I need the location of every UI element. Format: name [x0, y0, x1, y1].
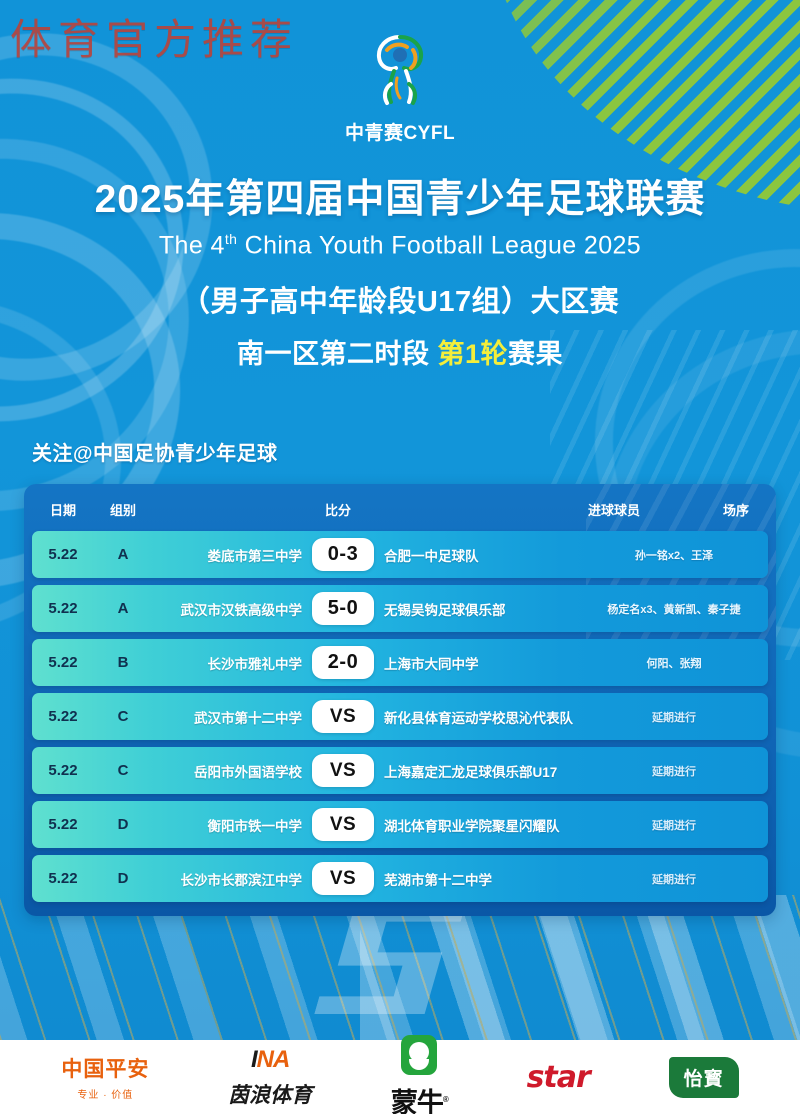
cell-match-no: 36	[764, 762, 768, 780]
cell-scorer: 延期进行	[584, 762, 764, 780]
sponsor-ina-monogram: INA	[251, 1046, 289, 1074]
poster-root: 体育官方推荐 中青赛CYFL 2025年第四届中国青少年足球联赛 The 4th…	[0, 0, 800, 1114]
away-team-name: 合肥一中足球队	[384, 545, 584, 565]
sponsor-yibao: 怡寳	[669, 1057, 739, 1098]
sponsor-ina-na: NA	[257, 1046, 290, 1073]
header-scorer: 进球球员	[524, 500, 704, 519]
home-team-name: 武汉市汉铁高级中学	[152, 599, 302, 619]
bottom-diagonal-decoration	[0, 895, 800, 1040]
cell-match-no: 32	[764, 546, 768, 564]
cell-date: 5.22	[32, 816, 94, 833]
cell-scorer: 何阳、张翔	[584, 654, 764, 672]
sponsor-star: star	[527, 1060, 590, 1095]
cell-date: 5.22	[32, 870, 94, 887]
results-table-card: 日期 组别 比分 进球球员 场序 5.22A娄底市第三中学0-3合肥一中足球队孙…	[24, 484, 776, 916]
cell-match: 武汉市汉铁高级中学5-0无锡吴钩足球俱乐部	[152, 592, 584, 625]
cell-match-no: 38	[764, 870, 768, 888]
sponsor-yibao-name: 怡寳	[669, 1057, 739, 1098]
cell-scorer: 孙一铭x2、王泽	[584, 546, 764, 564]
home-team-name: 衡阳市铁一中学	[152, 815, 302, 835]
scorer-text: 延期进行	[652, 766, 696, 778]
header-score: 比分	[152, 500, 524, 519]
scorer-text: 孙一铭x2、王泽	[635, 550, 713, 562]
table-row[interactable]: 5.22C岳阳市外国语学校VS上海嘉定汇龙足球俱乐部U17延期进行36	[32, 747, 768, 794]
sponsor-ina-name: 茵浪体育	[228, 1079, 312, 1109]
cell-date: 5.22	[32, 708, 94, 725]
cell-match-no: 34	[764, 654, 768, 672]
table-row[interactable]: 5.22D衡阳市铁一中学VS湖北体育职业学院聚星闪耀队延期进行37	[32, 801, 768, 848]
sponsor-mengniu-name: 蒙牛®	[391, 1081, 448, 1114]
cell-group: D	[94, 870, 152, 887]
english-title-rest: China Youth Football League 2025	[237, 231, 641, 259]
away-team-name: 无锡吴钩足球俱乐部	[384, 599, 584, 619]
away-team-name: 新化县体育运动学校思沁代表队	[384, 707, 584, 727]
header-match-no: 场序	[704, 500, 768, 519]
cell-match-no: 35	[764, 708, 768, 726]
cell-group: C	[94, 708, 152, 725]
header-group: 组别	[94, 500, 152, 519]
cell-match: 长沙市长郡滨江中学VS芜湖市第十二中学	[152, 862, 584, 895]
sponsor-star-name: star	[527, 1060, 590, 1095]
sponsor-bar: 中国平安 专业 · 价值 INA 茵浪体育 蒙牛® star 怡寳	[0, 1040, 800, 1114]
title-block: 2025年第四届中国青少年足球联赛 The 4th China Youth Fo…	[0, 178, 800, 371]
score-badge: 0-3	[312, 538, 374, 571]
table-row[interactable]: 5.22C武汉市第十二中学VS新化县体育运动学校思沁代表队延期进行35	[32, 693, 768, 740]
table-row[interactable]: 5.22D长沙市长郡滨江中学VS芜湖市第十二中学延期进行38	[32, 855, 768, 902]
scorer-text: 杨定名x3、黄新凯、秦子捷	[607, 604, 740, 616]
logo-text: 中青赛CYFL	[345, 118, 455, 145]
cell-group: B	[94, 654, 152, 671]
table-row[interactable]: 5.22A武汉市汉铁高级中学5-0无锡吴钩足球俱乐部杨定名x3、黄新凯、秦子捷3…	[32, 585, 768, 632]
cell-group: C	[94, 762, 152, 779]
sponsor-mengniu-label: 蒙牛	[391, 1088, 443, 1114]
cell-group: A	[94, 546, 152, 563]
sponsor-ina-sports: INA 茵浪体育	[228, 1046, 312, 1109]
table-header-row: 日期 组别 比分 进球球员 场序	[32, 494, 768, 524]
away-team-name: 芜湖市第十二中学	[384, 869, 584, 889]
score-badge: VS	[312, 862, 374, 895]
cell-match: 衡阳市铁一中学VS湖北体育职业学院聚星闪耀队	[152, 808, 584, 841]
table-body: 5.22A娄底市第三中学0-3合肥一中足球队孙一铭x2、王泽325.22A武汉市…	[32, 531, 768, 902]
cell-scorer: 延期进行	[584, 708, 764, 726]
subtitle-round-highlight: 第1轮	[437, 339, 508, 369]
table-row[interactable]: 5.22A娄底市第三中学0-3合肥一中足球队孙一铭x2、王泽32	[32, 531, 768, 578]
home-team-name: 武汉市第十二中学	[152, 707, 302, 727]
main-title: 2025年第四届中国青少年足球联赛	[0, 178, 800, 223]
mengniu-logo-icon	[401, 1035, 437, 1075]
cell-match-no: 33	[764, 600, 768, 618]
score-badge: 2-0	[312, 646, 374, 679]
home-team-name: 娄底市第三中学	[152, 545, 302, 565]
subtitle-category: （男子高中年龄段U17组）大区赛	[0, 278, 800, 320]
score-badge: 5-0	[312, 592, 374, 625]
cell-match: 娄底市第三中学0-3合肥一中足球队	[152, 538, 584, 571]
sponsor-ping-an: 中国平安 专业 · 价值	[61, 1053, 149, 1101]
cell-match: 岳阳市外国语学校VS上海嘉定汇龙足球俱乐部U17	[152, 754, 584, 787]
subtitle-round: 南一区第二时段 第1轮赛果	[0, 332, 800, 371]
sponsor-ping-an-name: 中国平安	[61, 1053, 149, 1083]
english-title-ordinal: th	[225, 231, 237, 247]
registered-mark: ®	[443, 1095, 448, 1104]
cell-date: 5.22	[32, 600, 94, 617]
score-badge: VS	[312, 700, 374, 733]
cyfl-emblem-icon	[361, 26, 439, 114]
cell-match: 长沙市雅礼中学2-0上海市大同中学	[152, 646, 584, 679]
scorer-text: 延期进行	[652, 874, 696, 886]
scorer-text: 延期进行	[652, 820, 696, 832]
follow-handle-text: 关注@中国足协青少年足球	[32, 437, 278, 466]
english-title-prefix: The 4	[159, 231, 225, 259]
cell-match: 武汉市第十二中学VS新化县体育运动学校思沁代表队	[152, 700, 584, 733]
cell-date: 5.22	[32, 762, 94, 779]
cell-match-no: 37	[764, 816, 768, 834]
home-team-name: 长沙市长郡滨江中学	[152, 869, 302, 889]
away-team-name: 湖北体育职业学院聚星闪耀队	[384, 815, 584, 835]
score-badge: VS	[312, 808, 374, 841]
subtitle-round-suffix: 赛果	[508, 339, 563, 369]
away-team-name: 上海市大同中学	[384, 653, 584, 673]
scorer-text: 何阳、张翔	[647, 658, 702, 670]
cell-scorer: 延期进行	[584, 816, 764, 834]
home-team-name: 长沙市雅礼中学	[152, 653, 302, 673]
cell-date: 5.22	[32, 546, 94, 563]
subtitle-round-region: 南一区第二时段	[237, 339, 438, 369]
sponsor-ping-an-tagline: 专业 · 价值	[77, 1086, 133, 1101]
cell-group: A	[94, 600, 152, 617]
cell-group: D	[94, 816, 152, 833]
header-date: 日期	[32, 500, 94, 519]
home-team-name: 岳阳市外国语学校	[152, 761, 302, 781]
away-team-name: 上海嘉定汇龙足球俱乐部U17	[384, 761, 584, 781]
cell-date: 5.22	[32, 654, 94, 671]
scorer-text: 延期进行	[652, 712, 696, 724]
cell-scorer: 延期进行	[584, 870, 764, 888]
score-badge: VS	[312, 754, 374, 787]
sponsor-mengniu: 蒙牛®	[391, 1035, 448, 1114]
logo-block: 中青赛CYFL	[0, 26, 800, 145]
english-title: The 4th China Youth Football League 2025	[0, 231, 800, 260]
table-row[interactable]: 5.22B长沙市雅礼中学2-0上海市大同中学何阳、张翔34	[32, 639, 768, 686]
cell-scorer: 杨定名x3、黄新凯、秦子捷	[584, 600, 764, 618]
